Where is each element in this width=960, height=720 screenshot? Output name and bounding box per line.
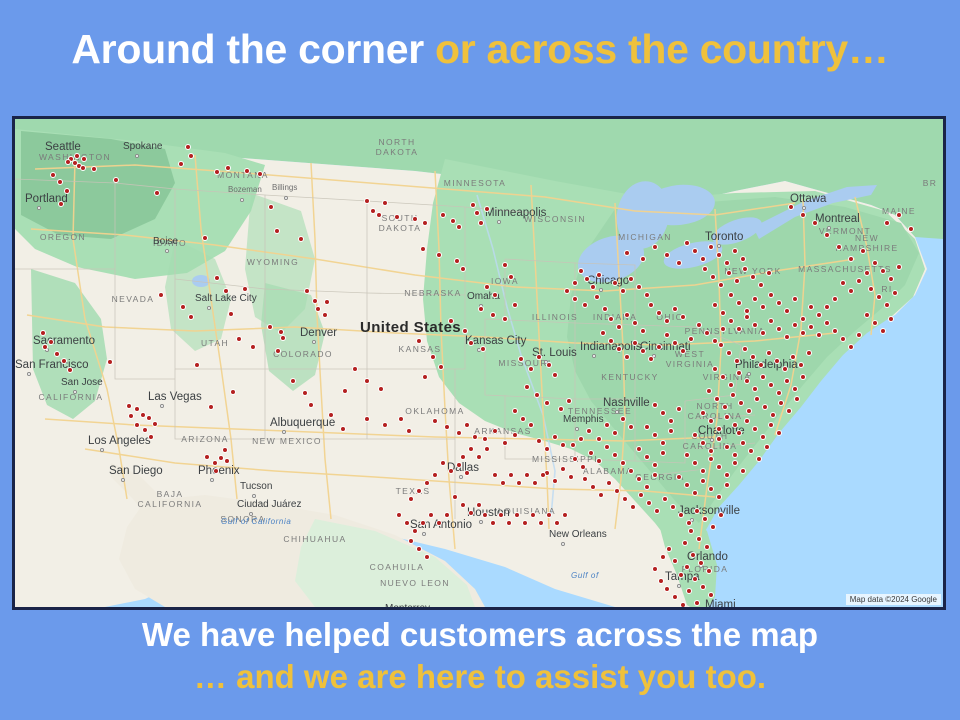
customer-location-pin <box>508 472 514 478</box>
customer-location-pin <box>664 586 670 592</box>
customer-location-pin <box>696 322 702 328</box>
customer-location-pin <box>748 448 754 454</box>
customer-location-pin <box>864 312 870 318</box>
customer-location-pin <box>716 464 722 470</box>
customer-location-pin <box>624 250 630 256</box>
customer-location-pin <box>766 270 772 276</box>
customer-location-pin <box>128 413 134 419</box>
customer-location-pin <box>776 326 782 332</box>
customer-location-pin <box>800 374 806 380</box>
customer-location-pin <box>223 288 229 294</box>
customer-location-pin <box>698 560 704 566</box>
customer-location-pin <box>774 358 780 364</box>
customer-location-pin <box>482 436 488 442</box>
customer-location-pin <box>420 246 426 252</box>
customer-location-pin <box>596 458 602 464</box>
customer-location-pin <box>572 280 578 286</box>
customer-location-pin <box>502 262 508 268</box>
customer-location-pin <box>624 312 630 318</box>
customer-location-pin <box>602 306 608 312</box>
customer-location-pin <box>888 316 894 322</box>
customer-location-pin <box>660 554 666 560</box>
customer-location-pin <box>134 422 140 428</box>
customer-location-pin <box>364 198 370 204</box>
customer-location-pin <box>48 339 54 345</box>
customer-location-pin <box>652 462 658 468</box>
customer-location-pin <box>302 390 308 396</box>
customer-location-pin <box>644 484 650 490</box>
customer-location-pin <box>552 372 558 378</box>
customer-location-pin <box>716 426 722 432</box>
footer-text: We have helped customers across the map … <box>0 614 960 698</box>
customer-location-pin <box>580 464 586 470</box>
customer-location-pin <box>512 302 518 308</box>
customer-location-pin <box>492 472 498 478</box>
customer-location-pin <box>732 248 738 254</box>
customer-location-pin <box>64 188 70 194</box>
customer-location-pin <box>54 351 60 357</box>
customer-location-pin <box>570 442 576 448</box>
customer-location-pin <box>784 308 790 314</box>
customer-location-pin <box>572 296 578 302</box>
customer-location-pin <box>298 236 304 242</box>
customer-location-pin <box>382 422 388 428</box>
customer-location-pin <box>792 386 798 392</box>
customer-location-pin <box>700 440 706 446</box>
customer-location-pin <box>518 356 524 362</box>
customer-location-pin <box>608 316 614 322</box>
customer-location-pin <box>460 454 466 460</box>
customer-location-pin <box>744 418 750 424</box>
customer-location-pin <box>768 382 774 388</box>
customer-location-pin <box>786 408 792 414</box>
customer-location-pin <box>672 558 678 564</box>
customer-location-pin <box>652 244 658 250</box>
customer-location-pin <box>342 388 348 394</box>
customer-location-pin <box>460 502 466 508</box>
customer-location-pin <box>478 306 484 312</box>
customer-location-pin <box>492 292 498 298</box>
customer-location-pin <box>700 410 706 416</box>
customer-location-pin <box>760 374 766 380</box>
customer-location-pin <box>224 458 230 464</box>
slide-root: Around the corner or across the country… <box>0 0 960 720</box>
customer-location-pin <box>462 328 468 334</box>
customer-location-pin <box>482 512 488 518</box>
customer-location-pin <box>720 310 726 316</box>
customer-location-pin <box>452 494 458 500</box>
customer-location-pin <box>742 266 748 272</box>
customer-location-pin <box>812 220 818 226</box>
customer-location-pin <box>214 169 220 175</box>
customer-location-pin <box>80 165 86 171</box>
customer-location-pin <box>824 304 830 310</box>
customer-location-pin <box>648 356 654 362</box>
customer-location-pin <box>154 190 160 196</box>
customer-location-pin <box>848 288 854 294</box>
customer-location-pin <box>616 324 622 330</box>
customer-location-pin <box>468 510 474 516</box>
customer-location-pin <box>484 284 490 290</box>
customer-location-pin <box>840 336 846 342</box>
customer-location-pin <box>444 512 450 518</box>
customer-location-pin <box>448 318 454 324</box>
customer-location-pin <box>776 430 782 436</box>
customer-location-pin <box>632 340 638 346</box>
customer-location-pin <box>456 462 462 468</box>
customer-location-pin <box>696 536 702 542</box>
customer-location-pin <box>444 424 450 430</box>
customer-location-pin <box>880 328 886 334</box>
customer-location-pin <box>766 350 772 356</box>
customer-location-pin <box>760 434 766 440</box>
customer-location-pin <box>702 608 708 610</box>
customer-location-pin <box>752 386 758 392</box>
customer-location-pin <box>322 312 328 318</box>
customer-location-pin <box>57 179 63 185</box>
customer-location-pin <box>636 476 642 482</box>
customer-location-pin <box>712 302 718 308</box>
customer-location-pin <box>784 378 790 384</box>
customer-location-pin <box>678 512 684 518</box>
customer-location-pin <box>728 318 734 324</box>
customer-location-pin <box>680 348 686 354</box>
customer-location-pin <box>394 214 400 220</box>
customer-location-pin <box>534 392 540 398</box>
customer-location-pin <box>702 266 708 272</box>
customer-location-pin <box>658 578 664 584</box>
customer-location-pin <box>315 306 321 312</box>
customer-location-pin <box>644 454 650 460</box>
customer-location-pin <box>686 588 692 594</box>
customer-location-pin <box>688 336 694 342</box>
customer-location-pin <box>620 288 626 294</box>
customer-location-pin <box>840 280 846 286</box>
customer-location-pin <box>792 322 798 328</box>
customer-location-pin <box>676 474 682 480</box>
customer-location-pin <box>492 428 498 434</box>
customer-location-pin <box>502 440 508 446</box>
customer-location-pin <box>225 165 231 171</box>
customer-location-pin <box>736 300 742 306</box>
customer-location-pin <box>740 256 746 262</box>
customer-location-pin <box>750 274 756 280</box>
customer-location-pin <box>416 488 422 494</box>
customer-location-pin <box>107 359 113 365</box>
customer-location-pin <box>664 318 670 324</box>
customer-location-pin <box>242 286 248 292</box>
customer-location-pin <box>146 415 152 421</box>
customer-location-pin <box>516 480 522 486</box>
map-canvas[interactable]: WASHINGTONOREGONIDAHOMONTANAWYOMINGNEVAD… <box>15 119 943 607</box>
customer-location-pin <box>700 584 706 590</box>
customer-location-pin <box>686 520 692 526</box>
customer-location-pin <box>586 428 592 434</box>
customer-location-pin <box>724 260 730 266</box>
customer-location-pin <box>782 366 788 372</box>
customer-location-pin <box>67 367 73 373</box>
customer-location-pin <box>506 520 512 526</box>
customer-location-pin <box>668 418 674 424</box>
customer-location-pin <box>876 294 882 300</box>
customer-location-pin <box>558 406 564 412</box>
customer-location-pin <box>692 460 698 466</box>
customer-location-pin <box>760 330 766 336</box>
customer-location-pin <box>212 460 218 466</box>
customer-location-pin <box>180 304 186 310</box>
customer-location-pin <box>408 538 414 544</box>
customer-location-pin <box>708 456 714 462</box>
customer-location-pin <box>732 422 738 428</box>
customer-location-pin <box>816 312 822 318</box>
customer-location-pin <box>608 338 614 344</box>
customer-location-pin <box>134 406 140 412</box>
customer-location-pin <box>620 416 626 422</box>
map-container[interactable]: WASHINGTONOREGONIDAHOMONTANAWYOMINGNEVAD… <box>12 116 946 610</box>
customer-location-pin <box>113 177 119 183</box>
customer-location-pin <box>412 216 418 222</box>
customer-location-pin <box>896 264 902 270</box>
customer-location-pin <box>872 320 878 326</box>
customer-location-pin <box>244 168 250 174</box>
customer-pins-layer <box>15 119 943 607</box>
customer-location-pin <box>236 336 242 342</box>
customer-location-pin <box>710 274 716 280</box>
customer-location-pin <box>824 320 830 326</box>
customer-location-pin <box>185 144 191 150</box>
customer-location-pin <box>884 302 890 308</box>
customer-location-pin <box>340 426 346 432</box>
customer-location-pin <box>560 466 566 472</box>
customer-location-pin <box>896 212 902 218</box>
customer-location-pin <box>832 296 838 302</box>
customer-location-pin <box>436 252 442 258</box>
page-title: Around the corner or across the country… <box>0 26 960 73</box>
customer-location-pin <box>540 472 546 478</box>
customer-location-pin <box>712 366 718 372</box>
customer-location-pin <box>732 452 738 458</box>
customer-location-pin <box>250 344 256 350</box>
customer-location-pin <box>848 256 854 262</box>
customer-location-pin <box>470 202 476 208</box>
customer-location-pin <box>546 512 552 518</box>
customer-location-pin <box>692 432 698 438</box>
customer-location-pin <box>376 212 382 218</box>
customer-location-pin <box>680 602 686 608</box>
headline-part-two: or across the country… <box>435 26 889 72</box>
customer-location-pin <box>396 512 402 518</box>
customer-location-pin <box>768 422 774 428</box>
customer-location-pin <box>564 288 570 294</box>
customer-location-pin <box>275 348 281 354</box>
customer-location-pin <box>790 354 796 360</box>
customer-location-pin <box>632 320 638 326</box>
customer-location-pin <box>544 446 550 452</box>
customer-location-pin <box>304 288 310 294</box>
customer-location-pin <box>142 427 148 433</box>
customer-location-pin <box>716 436 722 442</box>
customer-location-pin <box>734 278 740 284</box>
customer-location-pin <box>666 546 672 552</box>
customer-location-pin <box>704 544 710 550</box>
customer-location-pin <box>230 389 236 395</box>
customer-location-pin <box>188 314 194 320</box>
customer-location-pin <box>472 434 478 440</box>
customer-location-pin <box>81 156 87 162</box>
customer-location-pin <box>468 446 474 452</box>
customer-location-pin <box>836 244 842 250</box>
customer-location-pin <box>800 212 806 218</box>
customer-location-pin <box>546 362 552 368</box>
customer-location-pin <box>257 171 263 177</box>
customer-location-pin <box>648 302 654 308</box>
customer-location-pin <box>908 226 914 232</box>
customer-location-pin <box>228 311 234 317</box>
customer-location-pin <box>806 350 812 356</box>
customer-location-pin <box>872 260 878 266</box>
customer-location-pin <box>768 292 774 298</box>
customer-location-pin <box>267 324 273 330</box>
customer-location-pin <box>640 328 646 334</box>
customer-location-pin <box>728 292 734 298</box>
customer-location-pin <box>600 330 606 336</box>
customer-location-pin <box>718 512 724 518</box>
customer-location-pin <box>440 460 446 466</box>
customer-location-pin <box>888 276 894 282</box>
customer-location-pin <box>532 480 538 486</box>
customer-location-pin <box>422 220 428 226</box>
customer-location-pin <box>720 326 726 332</box>
customer-location-pin <box>778 400 784 406</box>
customer-location-pin <box>656 344 662 350</box>
customer-location-pin <box>756 456 762 462</box>
customer-location-pin <box>750 354 756 360</box>
customer-location-pin <box>684 452 690 458</box>
customer-location-pin <box>716 252 722 258</box>
customer-location-pin <box>718 342 724 348</box>
customer-location-pin <box>794 396 800 402</box>
customer-location-pin <box>706 388 712 394</box>
customer-location-pin <box>522 520 528 526</box>
customer-location-pin <box>424 554 430 560</box>
customer-location-pin <box>432 472 438 478</box>
customer-location-pin <box>568 474 574 480</box>
customer-location-pin <box>584 276 590 282</box>
customer-location-pin <box>578 268 584 274</box>
customer-location-pin <box>726 270 732 276</box>
customer-location-pin <box>572 456 578 462</box>
customer-location-pin <box>628 276 634 282</box>
customer-location-pin <box>416 338 422 344</box>
customer-location-pin <box>724 472 730 478</box>
customer-location-pin <box>680 314 686 320</box>
customer-location-pin <box>652 566 658 572</box>
customer-location-pin <box>662 496 668 502</box>
customer-location-pin <box>684 564 690 570</box>
customer-location-pin <box>764 444 770 450</box>
footer-line-two: … and we are here to assist you too. <box>0 656 960 698</box>
customer-location-pin <box>594 294 600 300</box>
customer-location-pin <box>720 374 726 380</box>
customer-location-pin <box>620 460 626 466</box>
customer-location-pin <box>776 390 782 396</box>
customer-location-pin <box>660 440 666 446</box>
customer-location-pin <box>654 508 660 514</box>
customer-location-pin <box>420 520 426 526</box>
customer-location-pin <box>268 204 274 210</box>
customer-location-pin <box>476 502 482 508</box>
customer-location-pin <box>800 330 806 336</box>
customer-location-pin <box>562 512 568 518</box>
customer-location-pin <box>58 201 64 207</box>
customer-location-pin <box>708 244 714 250</box>
customer-location-pin <box>528 422 534 428</box>
customer-location-pin <box>752 322 758 328</box>
customer-location-pin <box>710 524 716 530</box>
customer-location-pin <box>158 292 164 298</box>
customer-location-pin <box>590 284 596 290</box>
customer-location-pin <box>798 362 804 368</box>
customer-location-pin <box>204 454 210 460</box>
customer-location-pin <box>694 508 700 514</box>
customer-location-pin <box>456 224 462 230</box>
customer-location-pin <box>456 430 462 436</box>
customer-location-pin <box>708 592 714 598</box>
customer-location-pin <box>536 354 542 360</box>
customer-location-pin <box>478 220 484 226</box>
customer-location-pin <box>754 396 760 402</box>
customer-location-pin <box>708 448 714 454</box>
customer-location-pin <box>728 382 734 388</box>
customer-location-pin <box>398 416 404 422</box>
customer-location-pin <box>616 346 622 352</box>
customer-location-pin <box>700 256 706 262</box>
customer-location-pin <box>484 206 490 212</box>
customer-location-pin <box>274 228 280 234</box>
customer-location-pin <box>464 470 470 476</box>
customer-location-pin <box>682 540 688 546</box>
customer-location-pin <box>552 478 558 484</box>
customer-location-pin <box>784 334 790 340</box>
customer-location-pin <box>736 430 742 436</box>
customer-location-pin <box>598 492 604 498</box>
customer-location-pin <box>412 528 418 534</box>
customer-location-pin <box>406 428 412 434</box>
customer-location-pin <box>364 378 370 384</box>
customer-location-pin <box>848 344 854 350</box>
customer-location-pin <box>808 324 814 330</box>
customer-location-pin <box>762 404 768 410</box>
customer-location-pin <box>202 235 208 241</box>
map-attribution: Map data ©2024 Google <box>846 594 941 605</box>
customer-location-pin <box>370 208 376 214</box>
customer-location-pin <box>148 434 154 440</box>
customer-location-pin <box>702 516 708 522</box>
customer-location-pin <box>528 366 534 372</box>
customer-location-pin <box>628 424 634 430</box>
customer-location-pin <box>676 260 682 266</box>
customer-location-pin <box>312 298 318 304</box>
customer-location-pin <box>622 496 628 502</box>
customer-location-pin <box>582 302 588 308</box>
customer-location-pin <box>500 480 506 486</box>
customer-location-pin <box>430 354 436 360</box>
customer-location-pin <box>476 454 482 460</box>
customer-location-pin <box>816 332 822 338</box>
customer-location-pin <box>512 408 518 414</box>
customer-location-pin <box>538 520 544 526</box>
customer-location-pin <box>612 280 618 286</box>
